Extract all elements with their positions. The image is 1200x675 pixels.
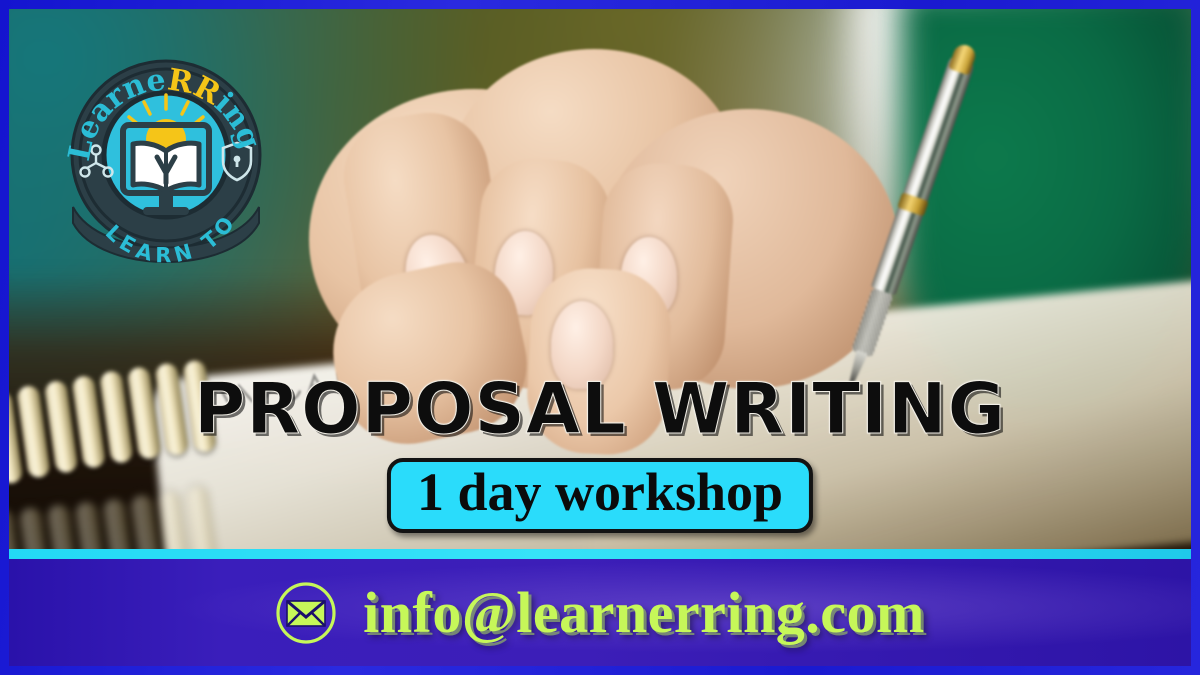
event-poster: LearneRRing LEARN TO LEAD PROPOSAL WRITI… [0, 0, 1200, 675]
open-book-icon [133, 143, 199, 191]
envelope-icon[interactable] [275, 582, 337, 644]
subtitle-text: 1 day workshop [417, 464, 783, 521]
contact-bar: info@learnerring.com [9, 559, 1191, 666]
contact-email[interactable]: info@learnerring.com [363, 579, 925, 646]
page-title: PROPOSAL WRITING [0, 368, 1200, 450]
subtitle-banner: 1 day workshop [387, 458, 813, 533]
accent-stripe [9, 549, 1191, 559]
brand-logo[interactable]: LearneRRing LEARN TO LEAD [61, 47, 271, 272]
